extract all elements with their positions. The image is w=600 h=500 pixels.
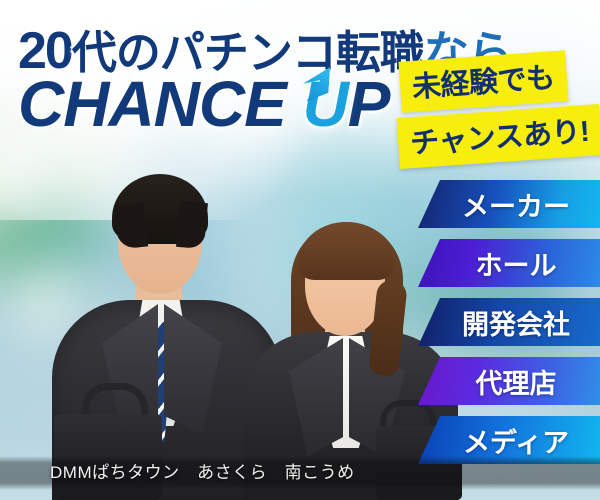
badge-group: 未経験でも チャンスあり!: [398, 56, 598, 162]
category-tag-label: ホール: [462, 244, 557, 283]
caption-credits: DMMぱちタウン あさくら 南こうめ: [50, 458, 355, 483]
banner-ad[interactable]: 20代のパチンコ転職なら CHANCE UP 未経験でも チャンスあり! メーカ…: [0, 0, 600, 500]
category-tag-developer[interactable]: 開発会社: [418, 298, 600, 346]
category-tag-media[interactable]: メディア: [418, 416, 600, 464]
logo-letter-p: P: [348, 68, 390, 140]
category-tag-label: メーカー: [448, 185, 570, 224]
category-tag-maker[interactable]: メーカー: [418, 180, 600, 228]
logo-word-chance: CHANCE: [18, 68, 286, 140]
badge-line-1: 未経験でも: [398, 50, 568, 112]
category-tag-agency[interactable]: 代理店: [418, 357, 600, 405]
logo-letter-u: U: [303, 72, 348, 136]
category-tag-label: 開発会社: [448, 303, 570, 342]
category-tag-label: 代理店: [462, 362, 557, 401]
category-tag-hall[interactable]: ホール: [418, 239, 600, 287]
badge-line-2: チャンスあり!: [396, 104, 600, 169]
chance-up-logo: CHANCE UP: [18, 72, 389, 136]
briefcase: [54, 414, 162, 500]
category-tag-list: メーカー ホール 開発会社 代理店 メディア: [418, 180, 600, 475]
category-tag-label: メディア: [449, 421, 569, 460]
